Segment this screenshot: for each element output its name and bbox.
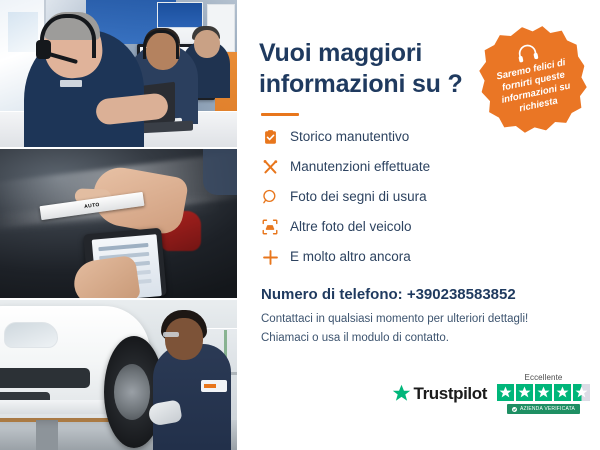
list-item: E molto altro ancora xyxy=(261,248,578,266)
mechanic-body xyxy=(153,344,231,450)
feature-label: Foto dei segni di usura xyxy=(290,190,427,204)
uniform-badge xyxy=(201,380,227,392)
content-panel: Vuoi maggiori informazioni su ? Saremo f… xyxy=(237,0,600,450)
verified-business-badge: AZIENDA VERIFICATA xyxy=(507,404,580,414)
rating-star xyxy=(554,384,571,401)
tablet-screen-content xyxy=(98,243,148,251)
trustpilot-widget[interactable]: Trustpilot Eccellente xyxy=(392,373,590,414)
advertisement-banner: AUTO xyxy=(0,0,600,450)
call-centre-advisors-photo xyxy=(0,0,237,147)
rating-caption: Eccellente xyxy=(525,373,563,382)
background-colleague-two-head xyxy=(194,30,220,58)
rating-star xyxy=(497,384,514,401)
list-item: Manutenzioni effettuate xyxy=(261,158,578,176)
vehicle-scan-icon xyxy=(261,218,279,236)
rating-star-half xyxy=(573,384,590,401)
contact-line-2: Chiamaci o usa il modulo di contatto. xyxy=(261,330,578,347)
title-divider xyxy=(261,113,299,116)
lift-post xyxy=(36,420,58,450)
polo-shirt-logo xyxy=(60,80,82,87)
request-info-badge: Saremo felici di fornirti queste informa… xyxy=(470,16,596,142)
list-item: Altre foto del veicolo xyxy=(261,218,578,236)
verified-check-icon xyxy=(512,407,517,412)
background-colleague-headset xyxy=(143,30,179,59)
feature-label: Manutenzioni effettuate xyxy=(290,160,430,174)
trustpilot-star-icon xyxy=(392,384,411,403)
trustpilot-rating: Eccellente xyxy=(497,373,590,414)
clipboard-check-icon xyxy=(261,128,279,146)
trustpilot-wordmark: Trustpilot xyxy=(414,384,487,404)
car-on-lift-photo xyxy=(0,300,237,450)
rating-star xyxy=(516,384,533,401)
wheel-rim xyxy=(114,364,150,420)
list-item: Foto dei segni di usura xyxy=(261,188,578,206)
tools-cross-icon xyxy=(261,158,279,176)
phone-number[interactable]: Numero di telefono: +390238583852 xyxy=(261,286,578,303)
magnifier-icon xyxy=(261,188,279,206)
verified-label: AZIENDA VERIFICATA xyxy=(520,406,575,412)
trustpilot-logo: Trustpilot xyxy=(392,384,487,404)
car-bumper xyxy=(0,400,108,414)
car-headlight xyxy=(4,322,58,348)
contact-line-1: Contattaci in qualsiasi momento per ulte… xyxy=(261,311,578,328)
car-grille xyxy=(0,368,90,388)
photo-column: AUTO xyxy=(0,0,237,450)
safety-glasses xyxy=(163,332,179,337)
mechanic-head xyxy=(165,318,203,360)
feature-label: E molto altro ancora xyxy=(290,250,411,264)
rating-star xyxy=(535,384,552,401)
feature-list: Storico manutentivo Manutenzioni effettu… xyxy=(261,128,578,266)
rating-stars xyxy=(497,384,590,401)
plus-icon xyxy=(261,248,279,266)
ruler-brand-label: AUTO xyxy=(84,202,100,210)
feature-label: Altre foto del veicolo xyxy=(290,220,412,234)
page-title: Vuoi maggiori informazioni su ? xyxy=(259,38,474,99)
technician-sleeve xyxy=(203,149,237,195)
car-panel-inspection-photo: AUTO xyxy=(0,149,237,298)
feature-label: Storico manutentivo xyxy=(290,130,409,144)
